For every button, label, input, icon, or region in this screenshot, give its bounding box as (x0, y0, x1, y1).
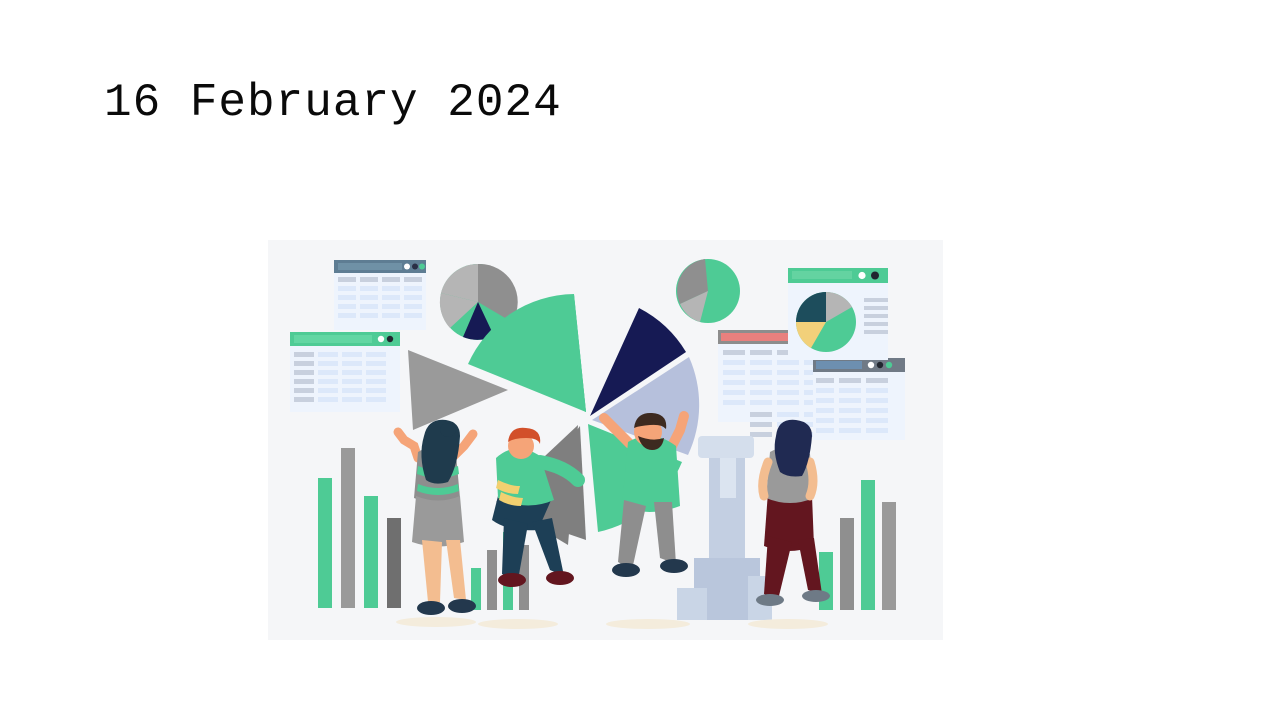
pie-chart-window (796, 292, 856, 352)
window-table-slate (334, 260, 426, 330)
page-title: 16 February 2024 (104, 72, 562, 134)
data-analysis-teamwork-illustration (268, 240, 943, 640)
slide-canvas: 16 February 2024 (0, 0, 1280, 720)
pie-chart-top-right (676, 259, 740, 323)
window-pie-green (788, 268, 888, 360)
illustration-svg (268, 240, 943, 640)
window-table-blue (813, 358, 905, 440)
window-table-green (290, 332, 400, 412)
